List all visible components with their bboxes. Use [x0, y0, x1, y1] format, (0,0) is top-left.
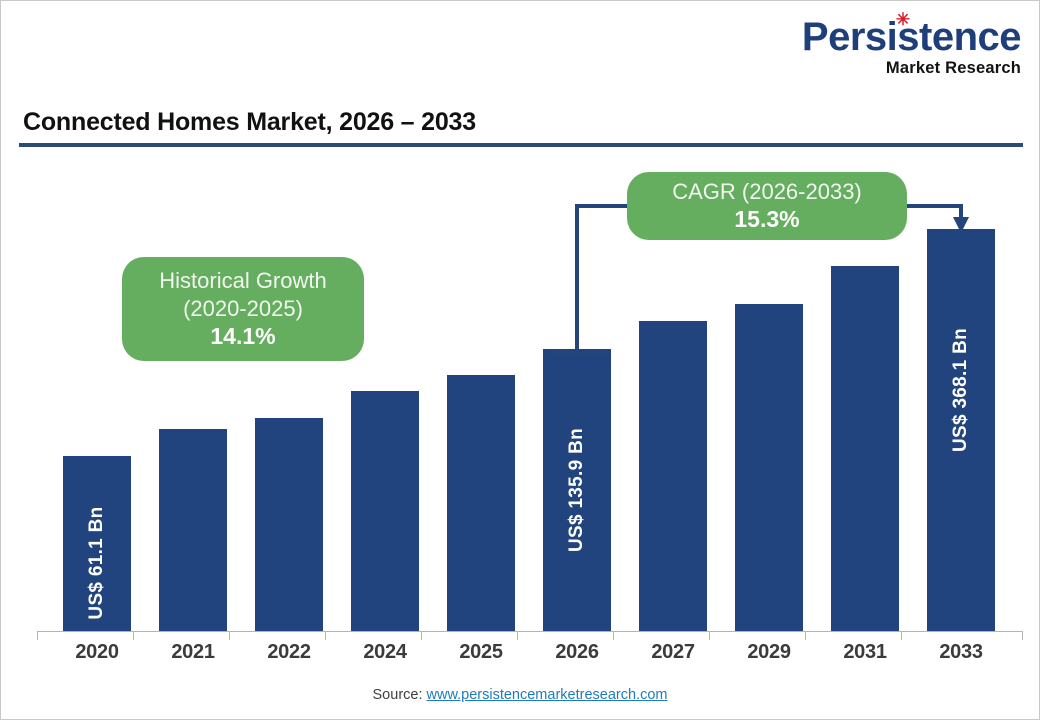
historical-growth-line1: Historical Growth	[159, 267, 326, 294]
bar-2031[interactable]	[831, 266, 899, 631]
asterisk-icon: ✳	[896, 11, 910, 28]
chart-page: Persistence ✳ Market Research Connected …	[0, 0, 1040, 720]
brand-logo: Persistence ✳ Market Research	[802, 17, 1021, 77]
x-axis-line	[37, 631, 1023, 632]
historical-growth-callout[interactable]: Historical Growth (2020-2025) 14.1%	[122, 257, 364, 361]
bar-label-2020: US$ 61.1 Bn	[86, 506, 108, 619]
brand-logo-text: Persistence	[802, 15, 1021, 59]
bar-2020[interactable]: US$ 61.1 Bn	[63, 456, 131, 631]
x-axis-tick	[421, 631, 422, 640]
historical-growth-value: 14.1%	[210, 322, 275, 351]
x-axis-label-2020: 2020	[49, 641, 145, 664]
x-axis-label-2022: 2022	[241, 641, 337, 664]
bar-2027[interactable]	[639, 321, 707, 631]
x-axis-label-2027: 2027	[625, 641, 721, 664]
x-axis-tick	[613, 631, 614, 640]
cagr-line1: CAGR (2026-2033)	[672, 178, 862, 205]
cagr-value: 15.3%	[734, 205, 799, 234]
cagr-callout[interactable]: CAGR (2026-2033) 15.3%	[627, 172, 907, 240]
historical-growth-line2: (2020-2025)	[183, 295, 303, 322]
title-divider	[19, 143, 1023, 147]
x-axis-tick	[709, 631, 710, 640]
bar-2029[interactable]	[735, 304, 803, 631]
x-axis-tick	[325, 631, 326, 640]
bar-2033[interactable]: US$ 368.1 Bn	[927, 229, 995, 631]
bar-label-2033: US$ 368.1 Bn	[950, 328, 972, 452]
bar-2024[interactable]	[351, 391, 419, 631]
bar-2026[interactable]: US$ 135.9 Bn	[543, 349, 611, 631]
bar-2025[interactable]	[447, 375, 515, 631]
x-axis-label-2024: 2024	[337, 641, 433, 664]
source-prefix: Source:	[373, 687, 427, 703]
x-axis-tick	[805, 631, 806, 640]
x-axis-tick	[517, 631, 518, 640]
x-axis-label-2031: 2031	[817, 641, 913, 664]
x-axis-tick	[229, 631, 230, 640]
source-link[interactable]: www.persistencemarketresearch.com	[427, 687, 668, 703]
x-axis-label-2025: 2025	[433, 641, 529, 664]
x-axis-label-2033: 2033	[913, 641, 1009, 664]
x-axis-tick	[901, 631, 902, 640]
bar-2022[interactable]	[255, 418, 323, 631]
brand-logo-wordmark: Persistence ✳	[802, 17, 1021, 57]
bar-2021[interactable]	[159, 429, 227, 631]
source-line: Source: www.persistencemarketresearch.co…	[1, 687, 1039, 703]
bar-label-2026: US$ 135.9 Bn	[566, 428, 588, 552]
x-axis-tick	[133, 631, 134, 640]
page-title: Connected Homes Market, 2026 – 2033	[23, 108, 476, 137]
x-axis-tick	[1022, 631, 1023, 640]
x-axis-tick	[37, 631, 38, 640]
brand-logo-tagline: Market Research	[802, 60, 1021, 77]
x-axis-label-2021: 2021	[145, 641, 241, 664]
x-axis-label-2026: 2026	[529, 641, 625, 664]
x-axis-label-2029: 2029	[721, 641, 817, 664]
